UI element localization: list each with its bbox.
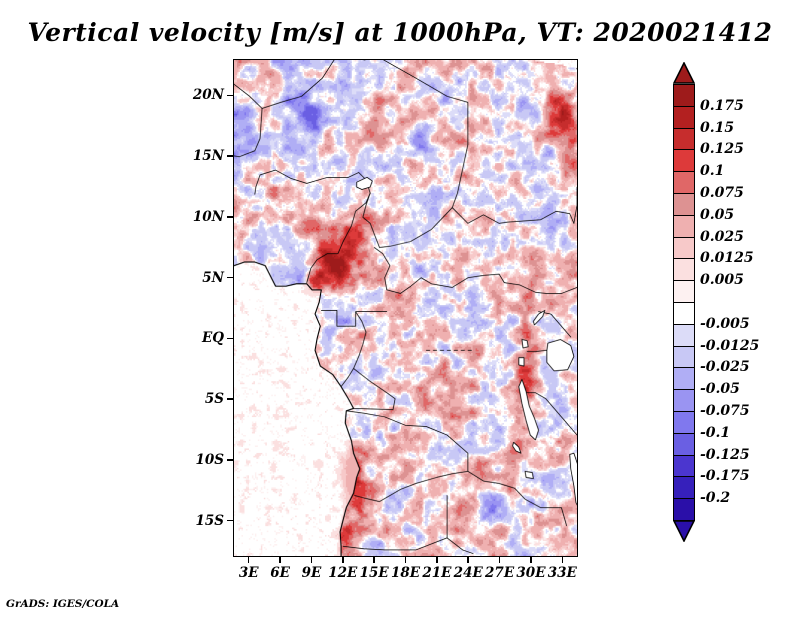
- colorbar-swatch: [673, 389, 695, 412]
- lat-tick-label-20n: 20N: [180, 87, 224, 103]
- colorbar-tick-label: -0.1: [700, 425, 730, 441]
- colorbar-tick-label: -0.2: [700, 490, 730, 506]
- lat-tick-mark: [227, 338, 233, 340]
- lon-tick-mark: [436, 557, 438, 563]
- lon-tick-mark: [530, 557, 532, 563]
- lat-tick-mark: [227, 216, 233, 218]
- colorbar-tick-label: 0.0125: [700, 250, 754, 266]
- lat-tick-mark: [227, 155, 233, 157]
- colorbar-tick-label: 0.075: [700, 185, 744, 201]
- colorbar-swatch: [673, 280, 695, 303]
- lat-tick-label-15n: 15N: [180, 148, 224, 164]
- lon-tick-label-9e: 9E: [302, 565, 322, 581]
- lon-tick-mark: [311, 557, 313, 563]
- colorbar-swatch: [673, 215, 695, 238]
- colorbar-tick-label: -0.175: [700, 468, 750, 484]
- colorbar-tick-label: -0.025: [700, 359, 750, 375]
- lat-tick-mark: [227, 459, 233, 461]
- map-plot-area: [233, 59, 578, 557]
- colorbar-swatch: [673, 455, 695, 478]
- colorbar-extend-max-arrow: [673, 62, 695, 84]
- colorbar-swatch: [673, 324, 695, 347]
- colorbar-tick-label: 0.175: [700, 98, 744, 114]
- lat-tick-mark: [227, 95, 233, 97]
- lat-tick-label-10s: 10S: [180, 452, 224, 468]
- lon-tick-label-24e: 24E: [454, 565, 483, 581]
- lon-tick-mark: [405, 557, 407, 563]
- colorbar-tick-label: 0.005: [700, 272, 744, 288]
- colorbar-extend-min-arrow: [673, 520, 695, 542]
- colorbar-swatch: [673, 106, 695, 129]
- colorbar-swatch: [673, 84, 695, 107]
- lon-tick-mark: [499, 557, 501, 563]
- colorbar-tick-label: 0.025: [700, 229, 744, 245]
- colorbar-tick-label: -0.05: [700, 381, 740, 397]
- colorbar-tick-label: -0.125: [700, 447, 750, 463]
- lon-tick-label-12e: 12E: [328, 565, 357, 581]
- lon-tick-mark: [342, 557, 344, 563]
- colorbar-tick-label: -0.005: [700, 316, 750, 332]
- colorbar-swatch: [673, 237, 695, 260]
- page-title: Vertical velocity [m/s] at 1000hPa, VT: …: [0, 18, 800, 47]
- lat-tick-label-10n: 10N: [180, 209, 224, 225]
- lat-tick-mark: [227, 277, 233, 279]
- lon-tick-label-6e: 6E: [270, 565, 290, 581]
- lon-tick-label-18e: 18E: [391, 565, 420, 581]
- colorbar-tick-label: 0.125: [700, 141, 744, 157]
- lat-tick-label-eq: EQ: [180, 330, 224, 346]
- lat-tick-mark: [227, 520, 233, 522]
- colorbar-swatch: [673, 498, 695, 521]
- lon-tick-mark: [373, 557, 375, 563]
- colorbar-swatch: [673, 433, 695, 456]
- colorbar-tick-label: -0.075: [700, 403, 750, 419]
- lon-tick-mark: [248, 557, 250, 563]
- colorbar-swatch: [673, 128, 695, 151]
- grads-credit: GrADS: IGES/COLA: [6, 598, 119, 610]
- colorbar-swatch: [673, 476, 695, 499]
- lon-tick-label-27e: 27E: [485, 565, 514, 581]
- lon-tick-label-3e: 3E: [239, 565, 259, 581]
- colorbar-tick-label: 0.1: [700, 163, 724, 179]
- colorbar-tick-label: 0.15: [700, 120, 734, 136]
- lon-tick-label-21e: 21E: [422, 565, 451, 581]
- colorbar: [673, 62, 695, 542]
- colorbar-tick-label: -0.0125: [700, 338, 759, 354]
- lat-tick-label-15s: 15S: [180, 513, 224, 529]
- lon-tick-mark: [467, 557, 469, 563]
- lon-tick-mark: [562, 557, 564, 563]
- colorbar-swatch: [673, 193, 695, 216]
- colorbar-swatch: [673, 411, 695, 434]
- colorbar-swatch: [673, 367, 695, 390]
- colorbar-swatch: [673, 302, 695, 325]
- lon-tick-label-30e: 30E: [516, 565, 545, 581]
- vertical-velocity-heatmap: [234, 60, 577, 556]
- colorbar-swatch: [673, 149, 695, 172]
- lon-tick-label-15e: 15E: [360, 565, 389, 581]
- lat-tick-label-5n: 5N: [180, 270, 224, 286]
- lat-tick-label-5s: 5S: [180, 391, 224, 407]
- colorbar-swatch: [673, 171, 695, 194]
- lon-tick-label-33e: 33E: [548, 565, 577, 581]
- lat-tick-mark: [227, 398, 233, 400]
- lon-tick-mark: [279, 557, 281, 563]
- colorbar-tick-label: 0.05: [700, 207, 734, 223]
- colorbar-swatch: [673, 346, 695, 369]
- colorbar-swatch: [673, 258, 695, 281]
